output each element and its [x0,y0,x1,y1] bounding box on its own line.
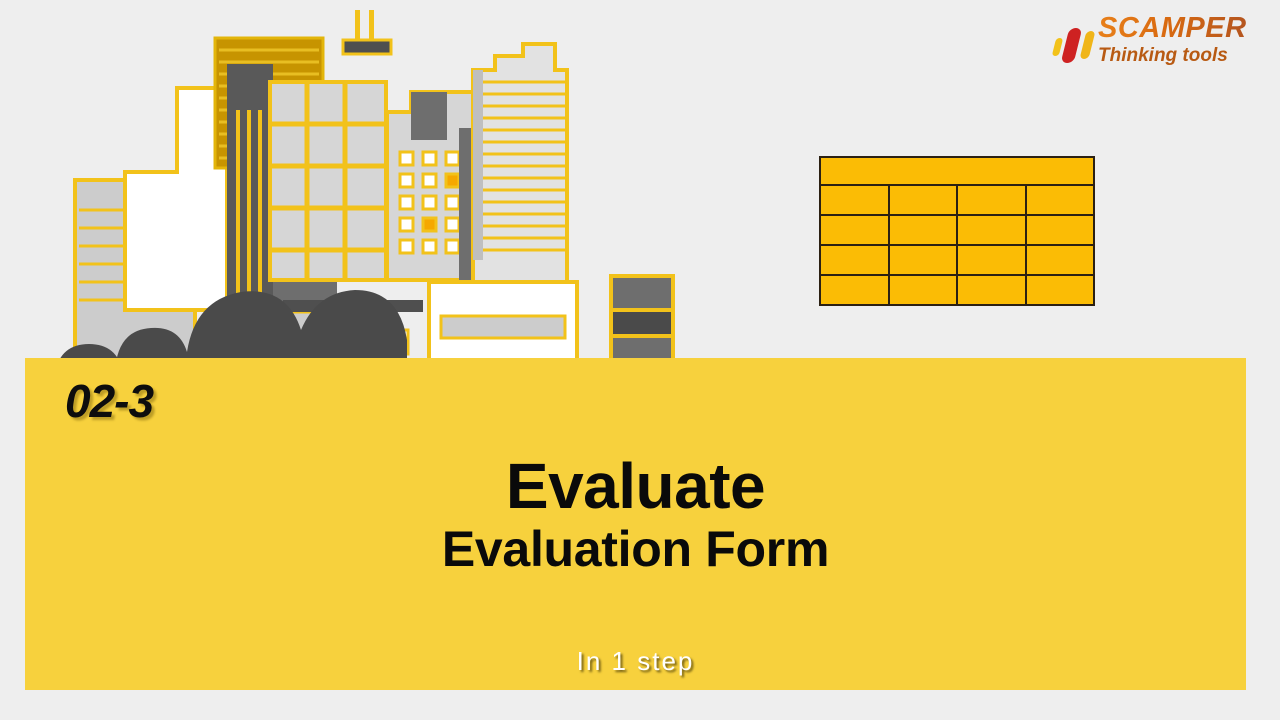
table-header-row [821,158,1093,186]
page-subtitle: Evaluation Form [25,521,1246,577]
table-cell [958,216,1027,244]
table-cell [958,246,1027,274]
table-cell [890,246,959,274]
table-cell [821,276,890,304]
table-body [821,186,1093,304]
table-row [821,246,1093,276]
scamper-logo: SCAMPER Thinking tools [1052,14,1252,76]
table-cell [890,186,959,214]
city-skyline-illustration [55,0,695,372]
table-cell [890,276,959,304]
logo-bar-yellow [1080,31,1096,59]
table-cell [958,276,1027,304]
table-cell [821,246,890,274]
table-row [821,186,1093,216]
table-cell [1027,186,1094,214]
table-cell [1027,216,1094,244]
title-block: Evaluate Evaluation Form [25,454,1246,577]
logo-subtitle: Thinking tools [1098,45,1247,67]
logo-text: SCAMPER Thinking tools [1098,14,1247,67]
evaluation-form-table [819,156,1095,306]
table-row [821,216,1093,246]
logo-bars-icon [1052,22,1098,66]
logo-bar-yellow-small [1052,38,1063,56]
table-cell [1027,276,1094,304]
table-cell [890,216,959,244]
logo-bar-red [1061,28,1083,63]
table-cell [821,186,890,214]
page-title: Evaluate [25,454,1246,519]
title-band: 02-3 Evaluate Evaluation Form In 1 step [25,358,1246,690]
table-cell [1027,246,1094,274]
slide-canvas: SCAMPER Thinking tools 02-3 Evaluate Eva… [0,0,1280,720]
table-cell [958,186,1027,214]
logo-title: SCAMPER [1098,14,1247,43]
table-row [821,276,1093,304]
step-caption: In 1 step [25,646,1246,677]
lesson-number-badge: 02-3 [65,374,153,428]
table-cell [821,216,890,244]
